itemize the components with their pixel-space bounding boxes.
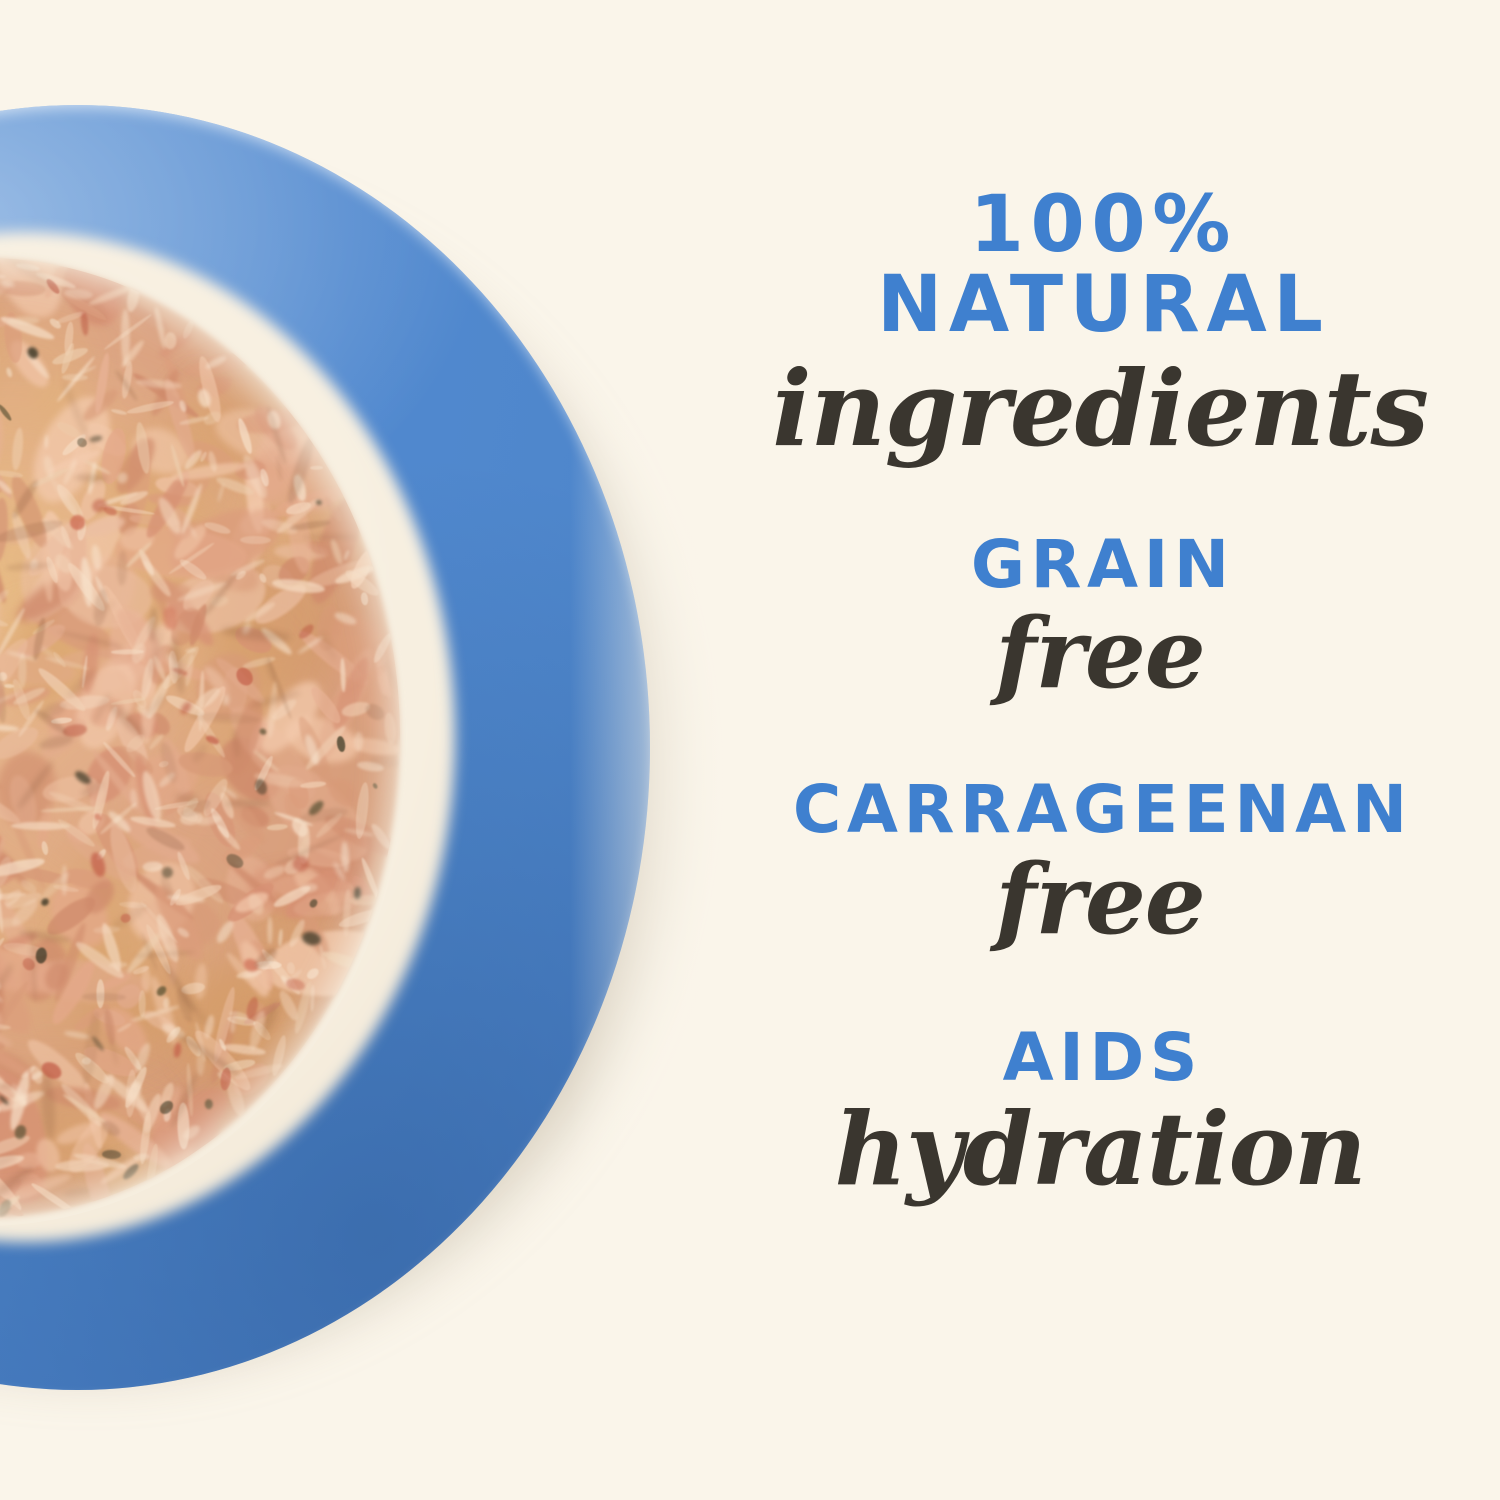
claim-grain-free: GRAIN free xyxy=(700,531,1500,702)
claim-carrageenan-free: CARRAGEENAN free xyxy=(700,776,1500,947)
claim-carrageenan-script: free xyxy=(700,852,1500,948)
benefit-claims-list: 100% NATURAL ingredients GRAIN free CARR… xyxy=(700,0,1500,1500)
claim-natural-script: ingredients xyxy=(700,357,1500,461)
product-benefits-panel: 100% NATURAL ingredients GRAIN free CARR… xyxy=(0,0,1500,1500)
claim-natural-ingredients: 100% NATURAL ingredients xyxy=(700,186,1500,461)
claim-natural-head-line1: 100% xyxy=(700,186,1500,266)
claim-hydration-script: hydration xyxy=(700,1099,1500,1199)
claim-carrageenan-head: CARRAGEENAN xyxy=(700,776,1500,843)
product-photo xyxy=(0,0,760,1500)
claim-aids-hydration: AIDS hydration xyxy=(700,1024,1500,1199)
claim-hydration-head: AIDS xyxy=(700,1024,1500,1091)
claim-natural-head-line2: NATURAL xyxy=(700,266,1500,346)
claim-grain-script: free xyxy=(700,606,1500,702)
claim-grain-head: GRAIN xyxy=(700,531,1500,598)
